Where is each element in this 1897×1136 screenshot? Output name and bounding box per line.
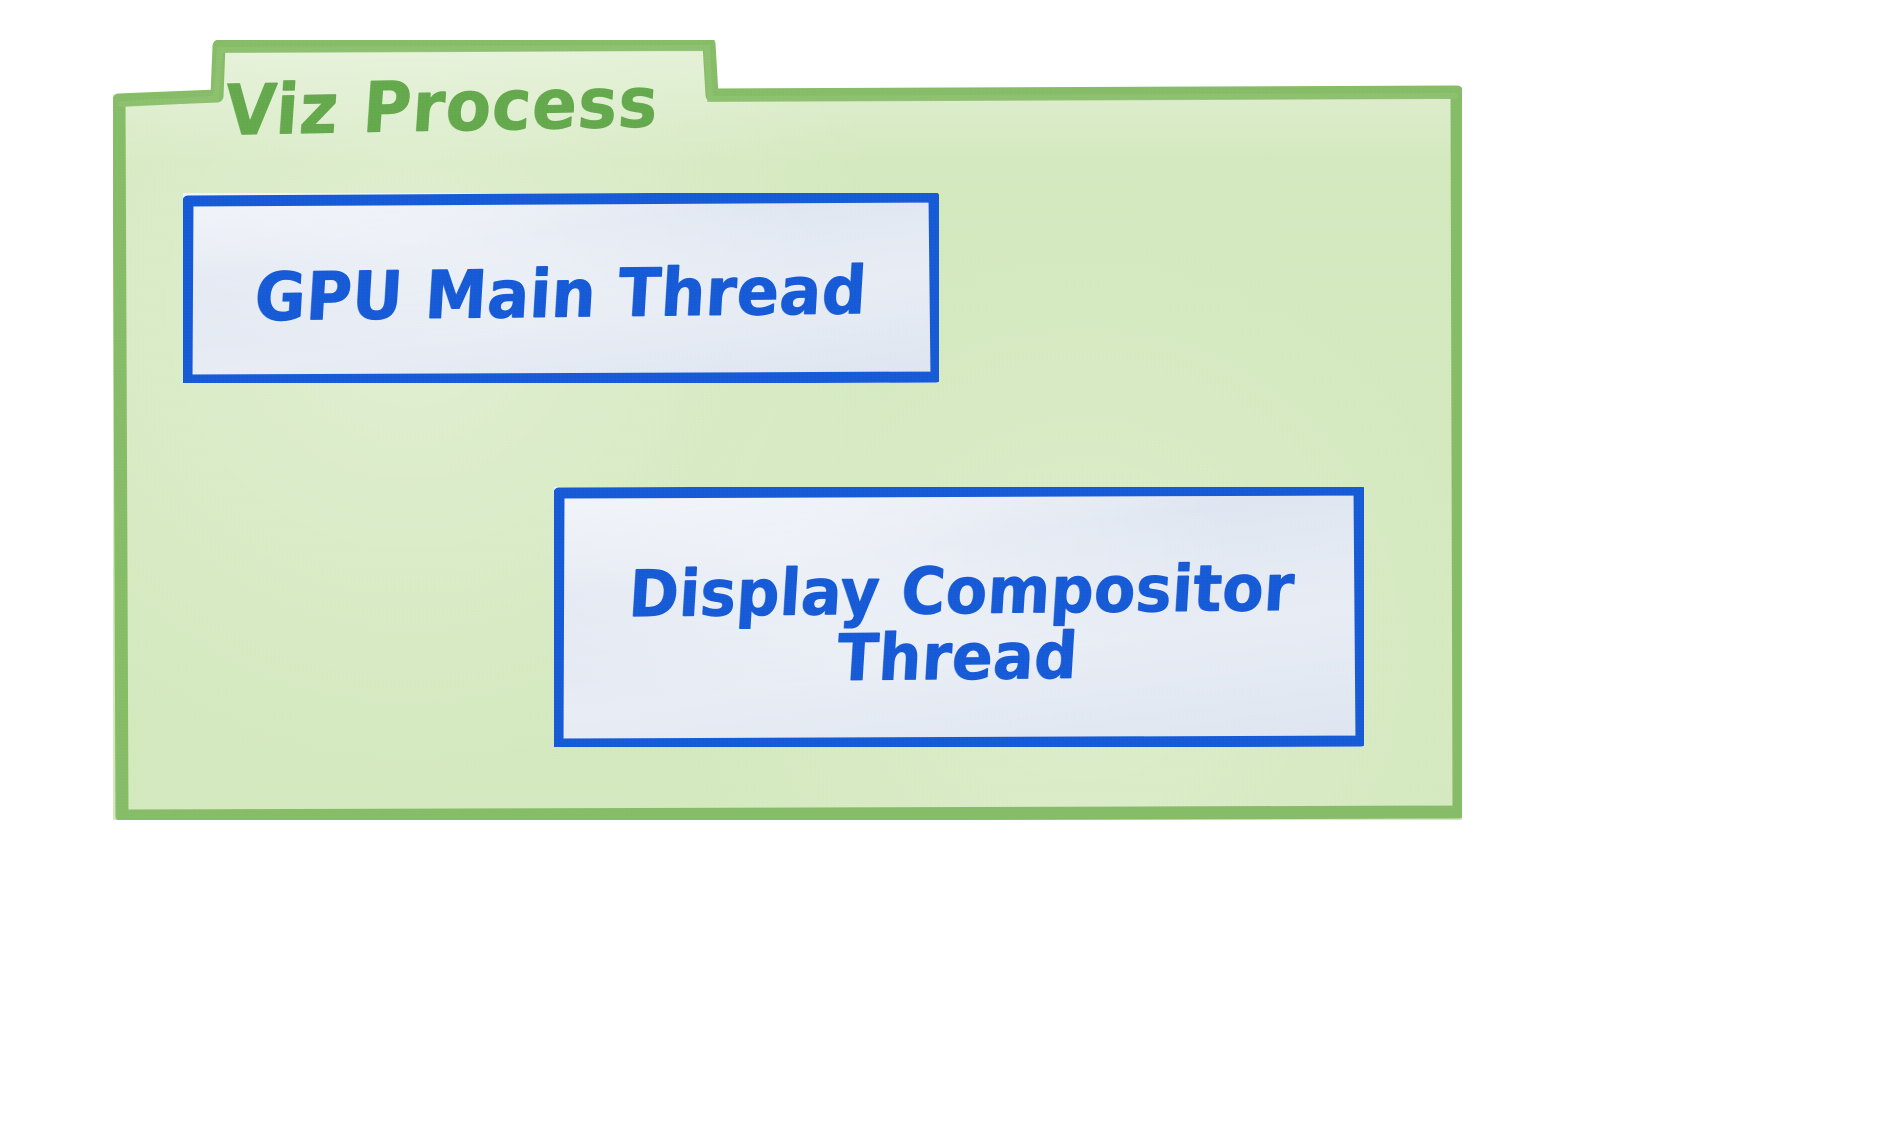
display-compositor-thread-label: Display Compositor Thread [606, 556, 1312, 695]
gpu-main-thread-label: GPU Main Thread [237, 258, 885, 330]
display-compositor-thread-box[interactable]: Display Compositor Thread [554, 487, 1364, 747]
viz-process-title: Viz Process [222, 61, 661, 151]
viz-process-group[interactable]: Viz Process GPU Main Thread Display Comp… [113, 40, 1462, 820]
gpu-main-thread-box[interactable]: GPU Main Thread [183, 193, 939, 383]
diagram-canvas: Viz Process GPU Main Thread Display Comp… [0, 0, 1897, 1136]
